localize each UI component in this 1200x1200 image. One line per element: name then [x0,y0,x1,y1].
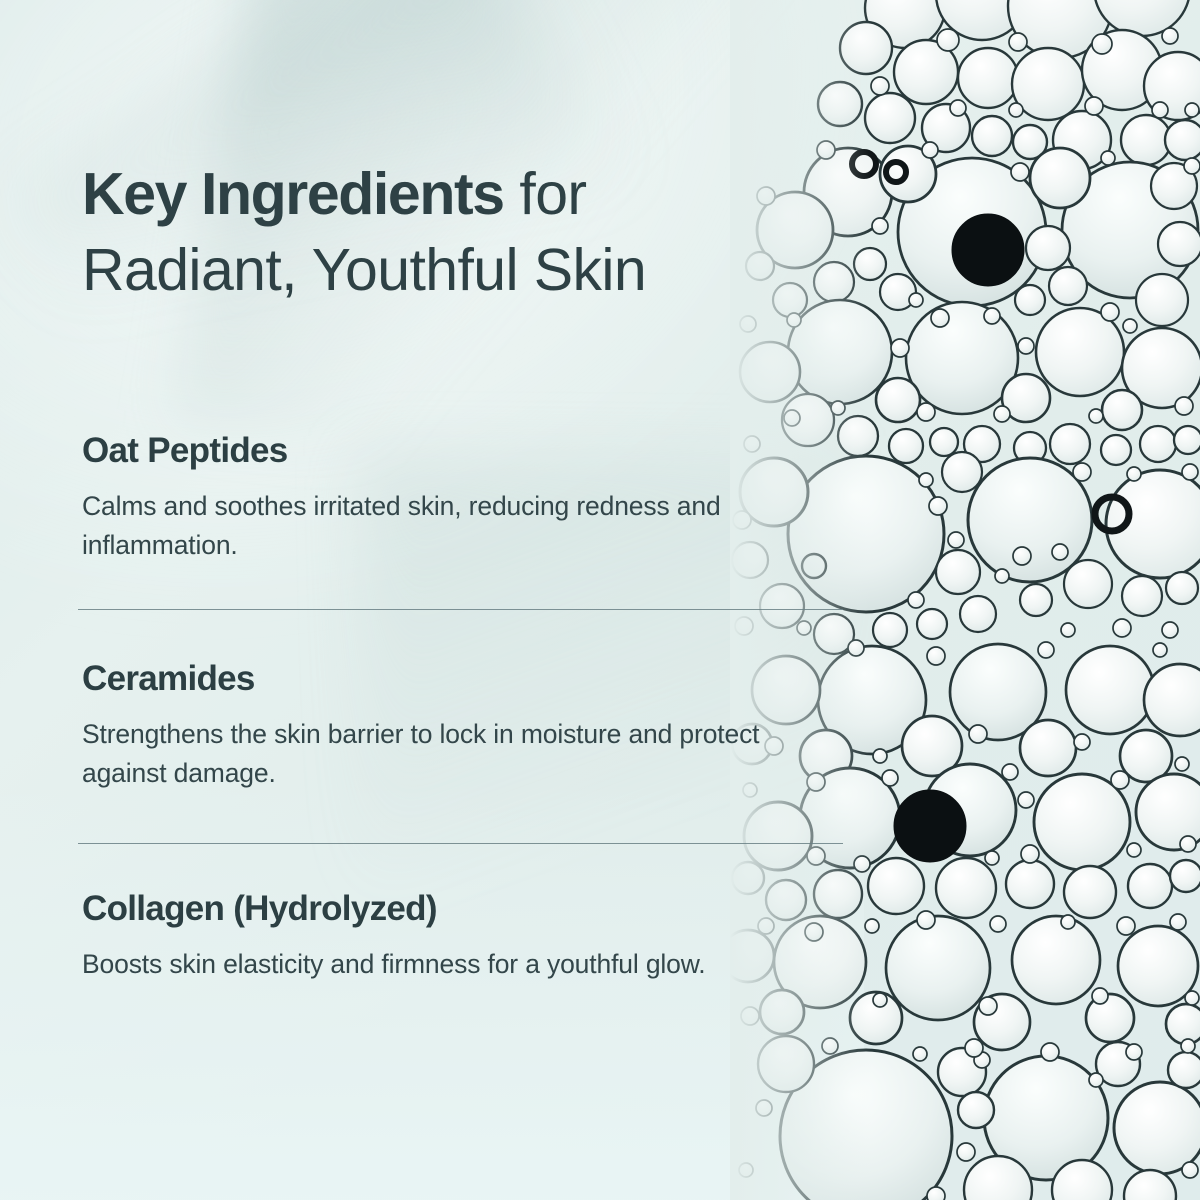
text-column: Key Ingredients for Radiant, Youthful Sk… [82,0,852,1200]
page-title: Key Ingredients for Radiant, Youthful Sk… [82,156,872,309]
ingredient-title: Collagen (Hydrolyzed) [82,890,802,929]
ingredient-description: Calms and soothes irritated skin, reduci… [82,487,797,565]
ingredient-description: Strengthens the skin barrier to lock in … [82,715,797,793]
ingredient-item-ceramides: Ceramides Strengthens the skin barrier t… [82,660,802,793]
ingredient-description: Boosts skin elasticity and firmness for … [82,945,797,984]
section-divider [78,843,843,844]
ingredient-title: Oat Peptides [82,432,802,471]
ingredient-item-collagen: Collagen (Hydrolyzed) Boosts skin elasti… [82,890,802,984]
headline-emphasis: Key Ingredients [82,161,504,227]
headline-line2: Radiant, Youthful Skin [82,237,646,303]
ingredients-poster: Key Ingredients for Radiant, Youthful Sk… [0,0,1200,1200]
headline-rest: for [504,161,587,227]
section-divider [78,609,843,610]
ingredient-title: Ceramides [82,660,802,699]
ingredient-item-oat-peptides: Oat Peptides Calms and soothes irritated… [82,432,802,565]
